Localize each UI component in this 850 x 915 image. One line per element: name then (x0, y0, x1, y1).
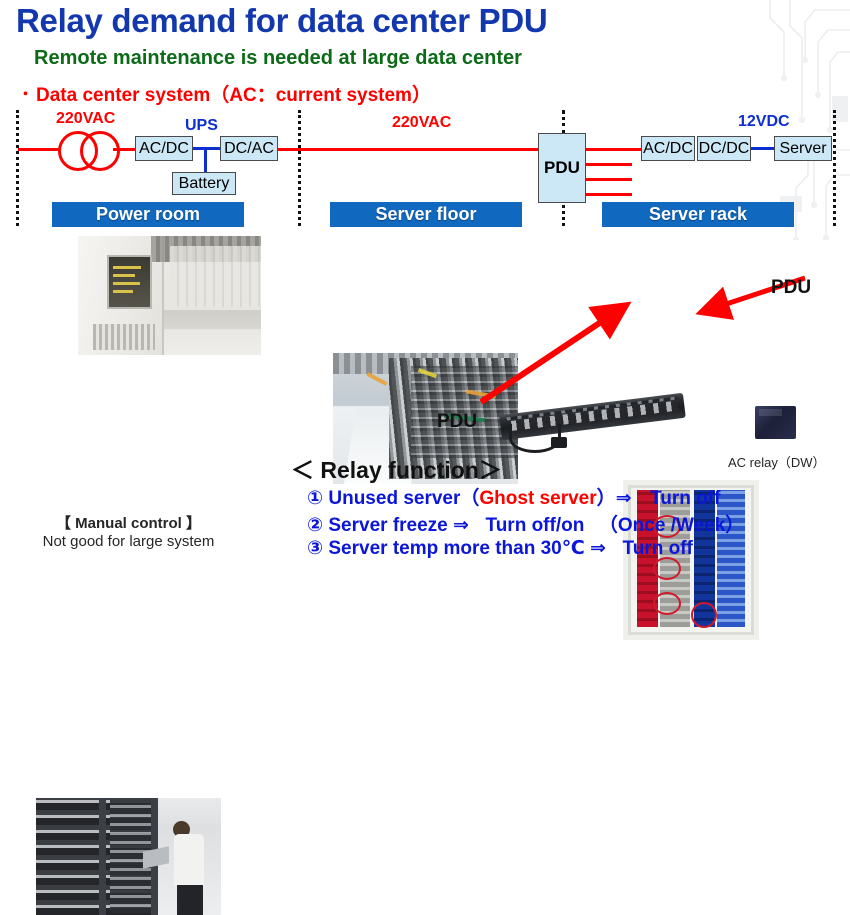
caption-ac-relay: AC relay（DW） (728, 452, 826, 471)
wire-220vac-distribution (278, 148, 540, 151)
relay-function-item-3: ③ Server temp more than 30℃ ⇒ Turn off (307, 537, 693, 560)
relay-function-item-2: ② Server freeze ⇒ Turn off/on （Once /Wee… (307, 510, 744, 537)
label-pdu-strip-callout: PDU (437, 411, 477, 433)
photo-ac-relay (755, 406, 796, 439)
relay-item-1-text-b: ）⇒ (597, 488, 632, 509)
zone-divider-left (16, 110, 19, 226)
block-ac-dc-rack: AC/DC (641, 136, 695, 161)
block-server: Server (774, 136, 832, 161)
caption-manual-control-line2: Not good for large system (16, 533, 241, 550)
bullet-paren: （AC：current system） (210, 85, 431, 106)
transformer-coil-2 (80, 131, 120, 171)
wire-transformer-out (113, 148, 135, 151)
bullet-line: ・Data center system（AC：current system） (18, 80, 431, 107)
label-220vac-input: 220VAC (56, 110, 115, 128)
label-220vac-distribution: 220VAC (392, 114, 451, 132)
photo-manual-control (36, 798, 221, 915)
arrow-pdu-strip-to-rack (473, 294, 643, 409)
relay-item-1-number: ① (307, 488, 323, 509)
relay-item-2-note: （Once /Week） (599, 515, 744, 536)
banner-server-rack: Server rack (602, 202, 794, 227)
slide-subtitle: Remote maintenance is needed at large da… (34, 47, 522, 70)
relay-item-1-text-a: Unused server（ (328, 488, 479, 509)
relay-item-3-text-a: Server temp more than 30℃ ⇒ (328, 538, 606, 559)
relay-function-item-1: ① Unused server（Ghost server）⇒ Turn off (307, 483, 720, 510)
block-pdu: PDU (538, 133, 586, 203)
banner-power-room: Power room (52, 202, 244, 227)
relay-item-2-number: ② (307, 515, 323, 536)
zone-divider-pdu-top (562, 110, 565, 134)
label-12vdc: 12VDC (738, 113, 790, 131)
block-battery: Battery (172, 172, 236, 195)
relay-item-1-highlight: Ghost server (479, 488, 596, 509)
label-pdu-rack-callout: PDU (771, 277, 811, 299)
wire-12vdc (751, 147, 774, 150)
relay-item-3-number: ③ (307, 538, 323, 559)
caption-manual-control-line1: 【 Manual control 】 (36, 512, 221, 533)
wire-ups-dc-right (207, 147, 220, 150)
block-dc-ac: DC/AC (220, 136, 278, 161)
bullet-text: Data center system (36, 85, 210, 106)
wire-pdu-out-1 (586, 163, 632, 166)
switchgear-control-panel (107, 255, 151, 309)
slide-title: Relay demand for data center PDU (16, 2, 547, 40)
zone-divider-mid (298, 110, 301, 226)
block-ac-dc-input: AC/DC (135, 136, 193, 161)
wire-pdu-out-2 (586, 178, 632, 181)
zone-divider-pdu-bottom (562, 200, 565, 226)
pdu-power-plug (551, 437, 567, 448)
relay-function-heading: ＜ Relay function＞ (291, 451, 502, 485)
wire-pdu-out-3 (586, 193, 632, 196)
photo-power-room (78, 236, 261, 355)
banner-server-floor: Server floor (330, 202, 522, 227)
relay-item-3-result: Turn off (623, 538, 693, 559)
wire-ups-dc-drop (204, 147, 207, 175)
label-ups: UPS (185, 117, 218, 135)
wire-pdu-out-main (586, 148, 641, 151)
zone-divider-right (833, 110, 836, 226)
bullet-marker: ・ (18, 86, 33, 103)
wire-mains-in (18, 148, 60, 151)
relay-item-2-text-a: Server freeze ⇒ (328, 515, 469, 536)
block-dc-dc: DC/DC (697, 136, 751, 161)
relay-item-1-result: Turn off (650, 488, 720, 509)
relay-item-2-result: Turn off/on (486, 515, 585, 536)
